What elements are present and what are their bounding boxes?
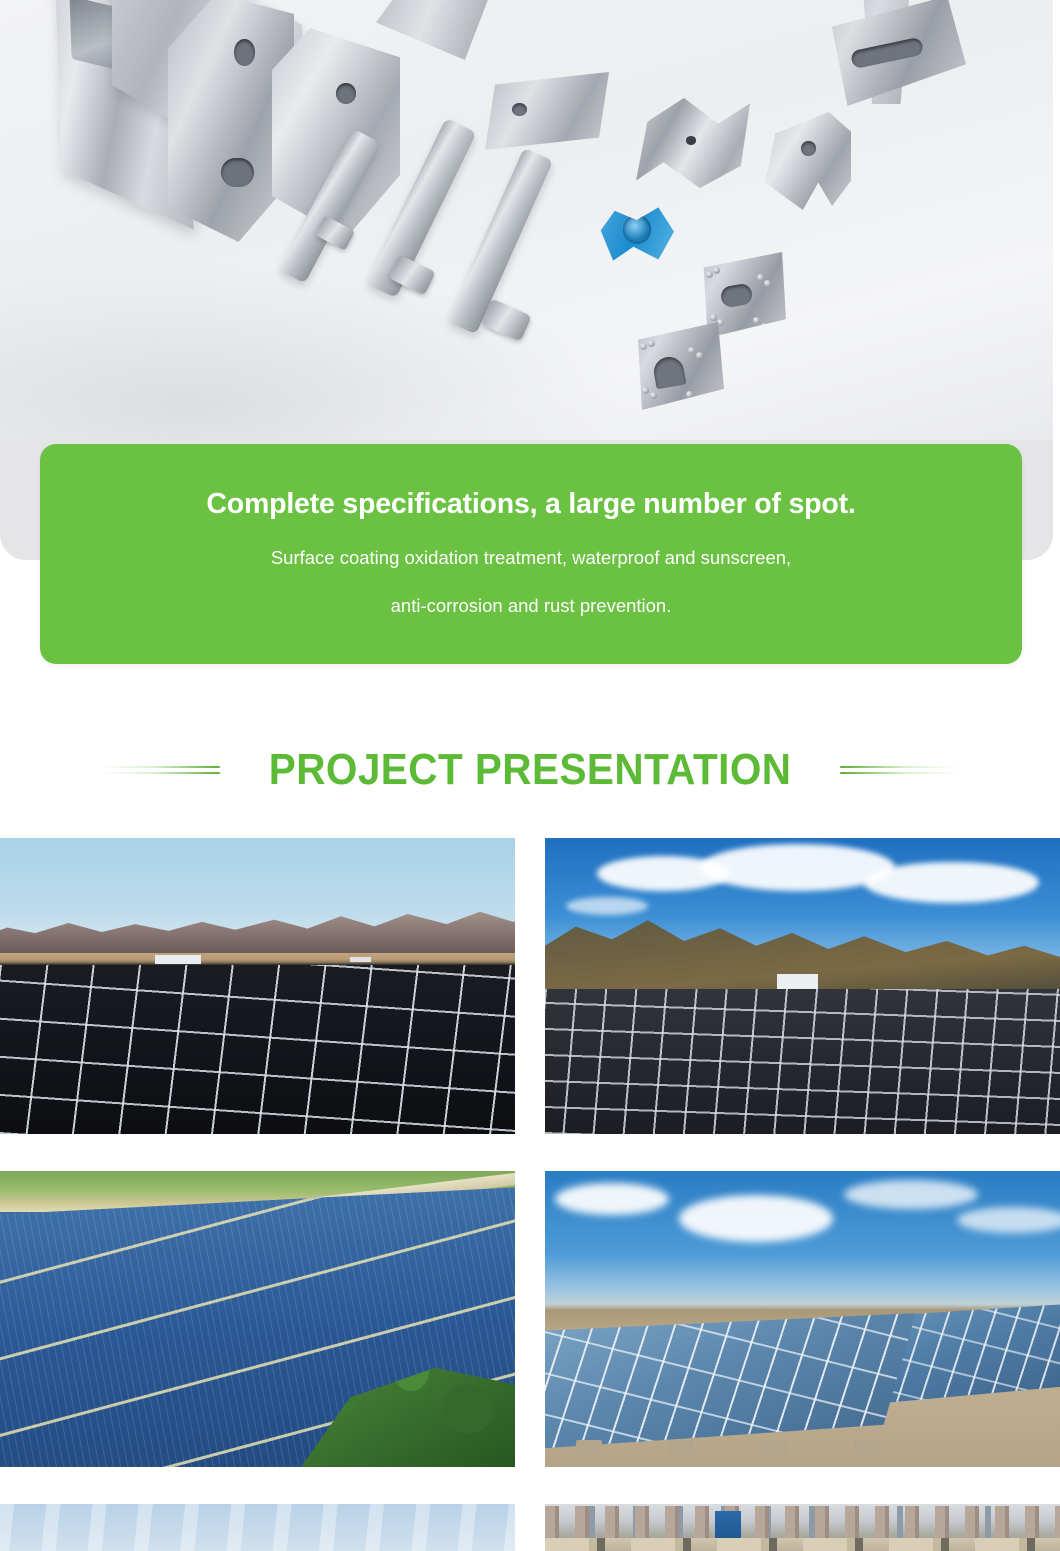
page-title: PROJECT PRESENTATION	[269, 745, 792, 795]
project-photo-urban-industrial[interactable]	[545, 1504, 1060, 1551]
specifications-subline-1: Surface coating oxidation treatment, wat…	[40, 520, 1022, 568]
gallery-row	[0, 1171, 1060, 1467]
project-photo-desert-solar-farm[interactable]	[0, 838, 515, 1134]
aluminium-mid-clamp-plate	[485, 72, 609, 150]
gallery-row	[0, 838, 1060, 1134]
product-hardware-photo	[0, 0, 1053, 440]
specifications-banner: Complete specifications, a large number …	[40, 444, 1022, 664]
aerial-blue-array-image	[0, 1171, 515, 1467]
plateau-solar-farm-image	[545, 838, 1060, 1134]
aluminium-end-clamp	[765, 112, 851, 210]
gallery-row	[0, 1504, 1060, 1551]
project-photo-ground-mount-rows[interactable]	[545, 1171, 1060, 1467]
product-detail-page: Complete specifications, a large number …	[0, 0, 1060, 1551]
galvanized-base-plate	[810, 0, 966, 106]
urban-industrial-image	[545, 1504, 1060, 1551]
hex-bolt-head	[480, 298, 532, 341]
metal-slab-top	[376, 0, 496, 60]
project-photo-aerial-blue-array[interactable]	[0, 1171, 515, 1467]
heading-decoration-right-icon	[840, 763, 960, 777]
anchor-plate-slot-hole	[624, 322, 724, 410]
project-photo-sky-array[interactable]	[0, 1504, 515, 1551]
desert-solar-farm-image	[0, 838, 515, 1134]
specifications-headline: Complete specifications, a large number …	[40, 444, 1022, 520]
t-bolt-blue-clip	[596, 205, 674, 263]
specifications-subline-2: anti-corrosion and rust prevention.	[40, 569, 1022, 616]
project-gallery	[0, 838, 1060, 1551]
ground-mount-rows-image	[545, 1171, 1060, 1467]
anchor-plate-oval-hole	[688, 252, 786, 338]
sky-array-image	[0, 1504, 515, 1551]
project-photo-plateau-solar-farm[interactable]	[545, 838, 1060, 1134]
aluminium-mid-clamp-z	[636, 96, 750, 188]
section-heading: PROJECT PRESENTATION	[0, 726, 1060, 814]
heading-decoration-left-icon	[100, 763, 220, 777]
